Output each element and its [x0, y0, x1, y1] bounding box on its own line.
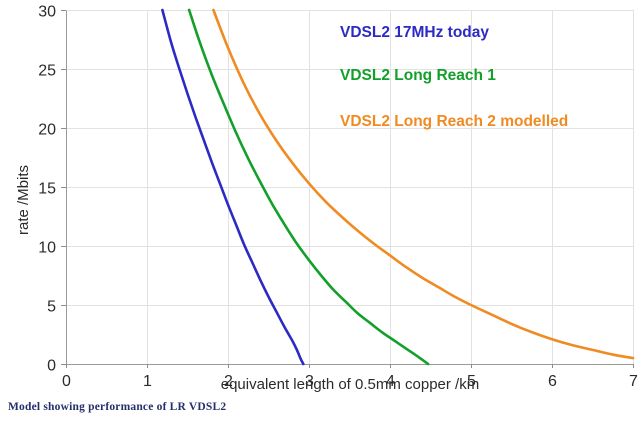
y-tick-label: 20 — [38, 122, 56, 139]
rate-vs-length-line-chart: 01234567 051015202530 equivalent length … — [0, 0, 640, 423]
y-tick-label: 0 — [47, 358, 56, 375]
y-axis-title: rate /Mbits — [15, 165, 32, 235]
y-tick-label: 5 — [47, 299, 56, 316]
chart-figure: 01234567 051015202530 equivalent length … — [0, 0, 640, 423]
x-axis-title: equivalent length of 0.5mm copper /km — [221, 376, 479, 393]
y-tick-label: 25 — [38, 63, 56, 80]
figure-caption: Model showing performance of LR VDSL2 — [8, 401, 226, 413]
legend-item-vdsl2-long-reach-1: VDSL2 Long Reach 1 — [340, 67, 496, 84]
x-tick-label: 7 — [629, 373, 638, 390]
y-tick-labels: 051015202530 — [38, 4, 56, 375]
x-tick-label: 0 — [62, 373, 71, 390]
legend-item-vdsl2-17mhz-today: VDSL2 17MHz today — [340, 24, 489, 41]
y-tick-label: 15 — [38, 181, 56, 198]
y-tick-label: 10 — [38, 240, 56, 257]
x-tick-label: 1 — [143, 373, 152, 390]
legend-item-vdsl2-long-reach-2-modelled: VDSL2 Long Reach 2 modelled — [340, 113, 568, 130]
y-tick-label: 30 — [38, 4, 56, 21]
x-tick-label: 6 — [548, 373, 557, 390]
tick-marks — [61, 11, 634, 369]
gridlines — [66, 10, 634, 364]
